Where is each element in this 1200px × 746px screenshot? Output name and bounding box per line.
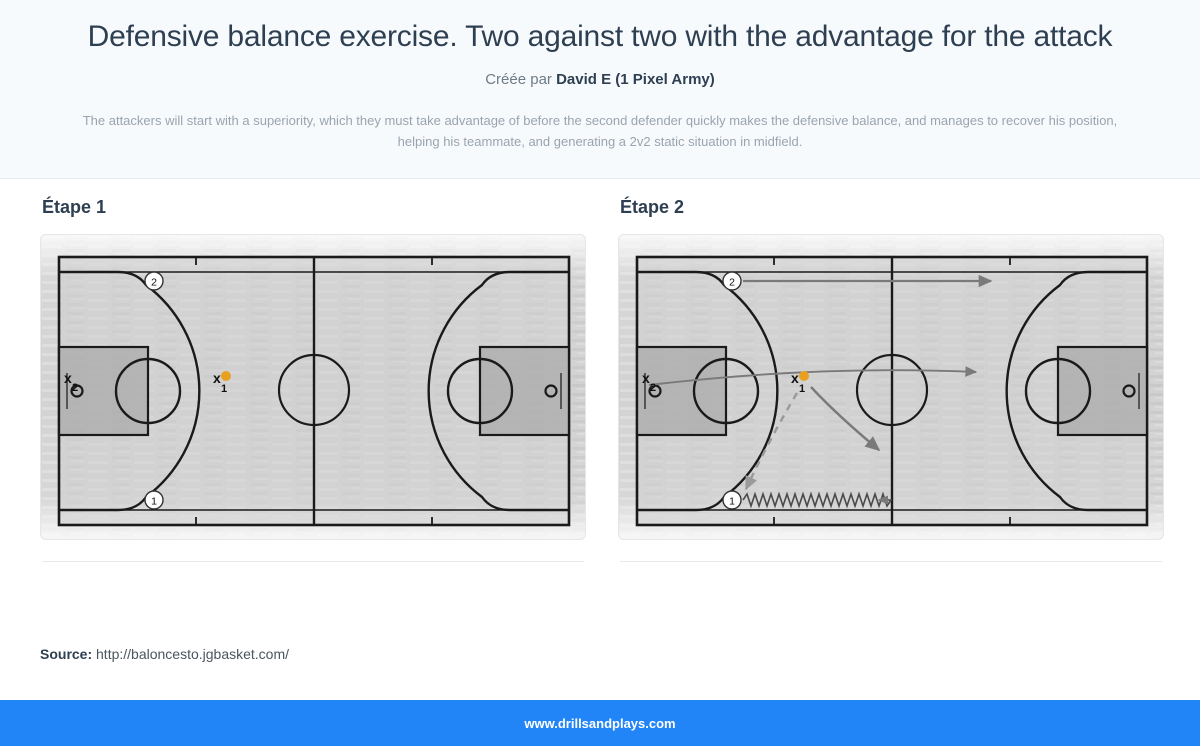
page-title: Defensive balance exercise. Two against …: [24, 20, 1176, 55]
defender-x1-letter: x: [213, 370, 221, 386]
offense-player-2-label: 2: [729, 277, 735, 289]
defender-x2-letter: x: [64, 370, 72, 386]
ball-icon: [799, 371, 809, 381]
byline-prefix: Créée par: [485, 71, 556, 88]
step-1-court-card[interactable]: x 2 x 1 2: [40, 234, 586, 540]
step-1-divider: [42, 561, 584, 562]
defender-x2-number: 2: [72, 382, 78, 394]
offense-player-1-marker-2: 1: [723, 491, 741, 509]
defender-x2-letter: x: [642, 370, 650, 386]
steps-container: Étape 1: [0, 179, 1200, 562]
source-label: Source:: [40, 646, 92, 662]
step-1: Étape 1: [40, 197, 586, 562]
court-surface-1: x 2 x 1 2: [59, 257, 569, 525]
defender-x1-number: 1: [221, 383, 227, 395]
court-surface-2: x 2 x 1 2: [637, 257, 1147, 525]
offense-player-1-label: 1: [729, 496, 735, 508]
ball-icon: [221, 371, 231, 381]
footer-site-name[interactable]: www.drillsandplays.com: [524, 716, 675, 731]
page-root: Defensive balance exercise. Two against …: [0, 0, 1200, 746]
byline: Créée par David E (1 Pixel Army): [24, 71, 1176, 88]
basketball-court-diagram-2: x 2 x 1 2: [619, 235, 1164, 540]
site-footer: www.drillsandplays.com: [0, 700, 1200, 746]
defender-x2-number: 2: [650, 382, 656, 394]
source-line: Source: http://baloncesto.jgbasket.com/: [40, 646, 289, 662]
drill-description: The attackers will start with a superior…: [64, 110, 1136, 153]
page-header: Defensive balance exercise. Two against …: [0, 0, 1200, 179]
defender-x1-letter: x: [791, 370, 799, 386]
step-2: Étape 2: [618, 197, 1164, 562]
offense-player-2-marker-1: 2: [145, 272, 163, 290]
step-2-divider: [620, 561, 1162, 562]
source-url[interactable]: http://baloncesto.jgbasket.com/: [96, 646, 289, 662]
offense-player-2-marker-2: 2: [723, 272, 741, 290]
byline-author: David E (1 Pixel Army): [556, 71, 715, 88]
basketball-court-diagram-1: x 2 x 1 2: [41, 235, 586, 540]
step-1-title: Étape 1: [42, 197, 586, 218]
step-2-court-card[interactable]: x 2 x 1 2: [618, 234, 1164, 540]
defender-x1-number: 1: [799, 383, 805, 395]
offense-player-2-label: 2: [151, 277, 157, 289]
offense-player-1-marker-1: 1: [145, 491, 163, 509]
offense-player-1-label: 1: [151, 496, 157, 508]
step-2-title: Étape 2: [620, 197, 1164, 218]
